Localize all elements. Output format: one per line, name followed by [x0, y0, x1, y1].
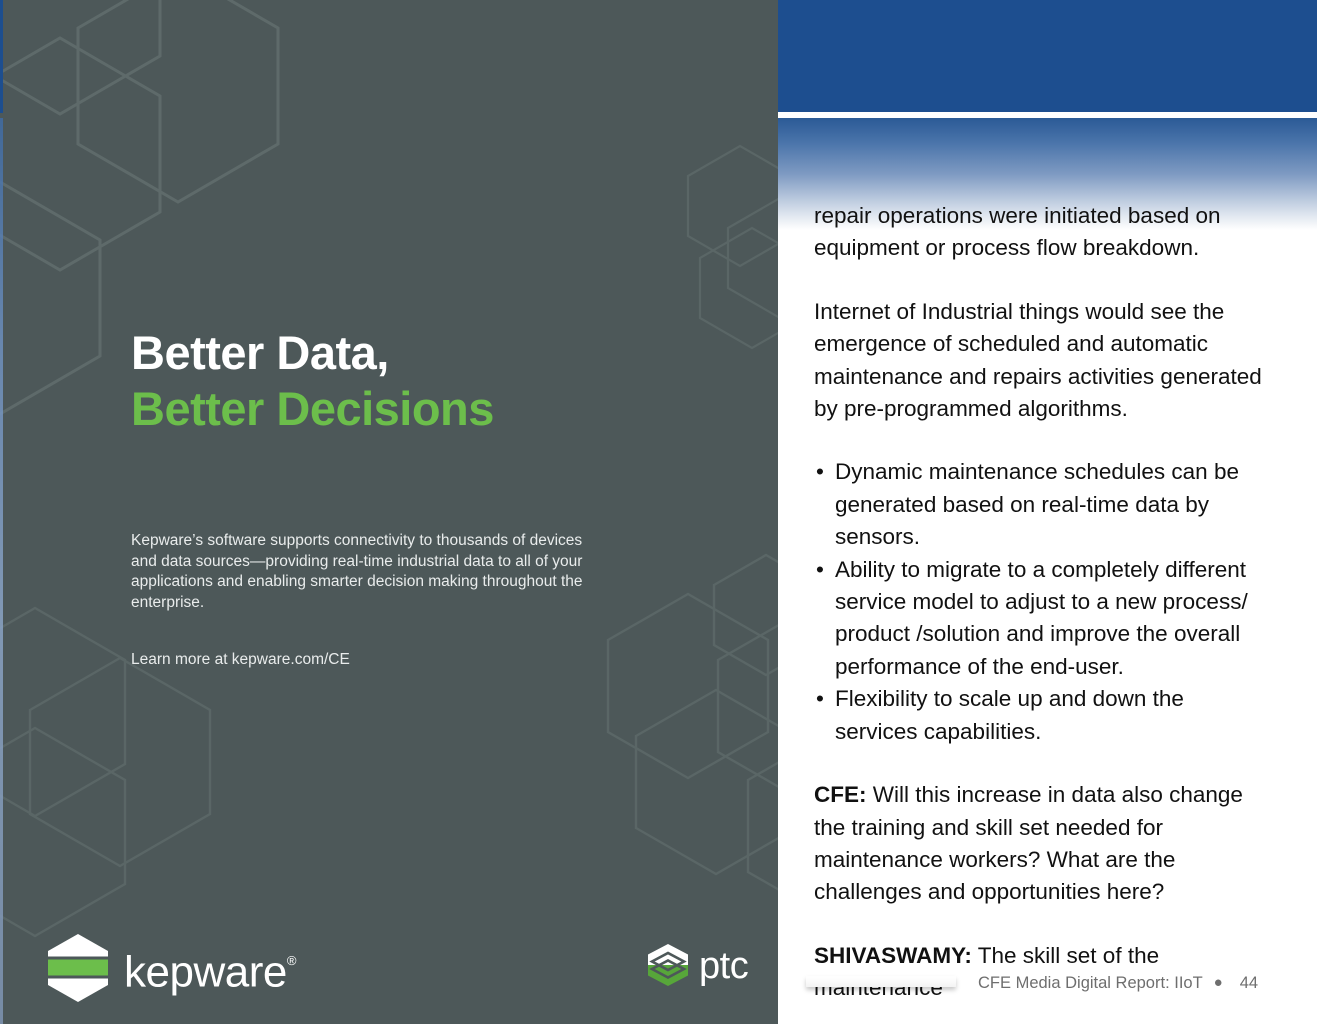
list-item: •Dynamic maintenance schedules can be ge… [814, 456, 1264, 553]
article-page: repair operations were initiated based o… [778, 0, 1317, 1024]
footer-publication-name: CFE Media Digital Report: IIoT [978, 974, 1203, 993]
list-item-text: Dynamic maintenance schedules can be gen… [835, 459, 1239, 549]
ad-content: Better Data, Better Decisions Kepware’s … [0, 0, 778, 1024]
ad-body-copy: Kepware’s software supports connectivity… [131, 531, 591, 613]
footer-separator-dot: ● [1214, 973, 1223, 992]
bullet-icon: • [816, 456, 824, 488]
ptc-wordmark: ptc [699, 947, 748, 985]
list-item: •Flexibility to scale up and down the se… [814, 683, 1264, 748]
ptc-logo: ptc [648, 944, 748, 986]
page-header-blue-band [778, 0, 1317, 112]
article-bullet-list: •Dynamic maintenance schedules can be ge… [814, 456, 1264, 748]
question-text: Will this increase in data also change t… [814, 782, 1243, 904]
article-question: CFE: Will this increase in data also cha… [814, 779, 1264, 909]
ad-headline-line2: Better Decisions [131, 381, 731, 437]
kepware-wordmark: kepware® [124, 945, 296, 995]
article-text-column: repair operations were initiated based o… [814, 200, 1264, 1005]
ad-headline: Better Data, Better Decisions [131, 325, 731, 437]
article-paragraph: Internet of Industrial things would see … [814, 296, 1264, 426]
kepware-logo: kepware® [48, 934, 296, 1002]
bullet-icon: • [816, 683, 824, 715]
kepware-registered-mark: ® [287, 953, 296, 968]
list-item-text: Flexibility to scale up and down the ser… [835, 686, 1184, 743]
kepware-wordmark-text: kepware [124, 948, 287, 997]
footer-decorative-bar [806, 976, 956, 987]
article-paragraph: repair operations were initiated based o… [814, 200, 1264, 265]
list-item: •Ability to migrate to a completely diff… [814, 554, 1264, 684]
page-number: 44 [1240, 974, 1258, 993]
ad-learn-more-link[interactable]: Learn more at kepware.com/CE [131, 650, 591, 670]
question-speaker-label: CFE: [814, 782, 867, 807]
kepware-hexagon-icon [48, 934, 108, 1002]
ptc-hexagon-icon [648, 944, 688, 986]
magazine-spread: Better Data, Better Decisions Kepware’s … [0, 0, 1317, 1024]
bullet-icon: • [816, 554, 824, 586]
kepware-advertisement-panel: Better Data, Better Decisions Kepware’s … [0, 0, 778, 1024]
footer-caption: CFE Media Digital Report: IIoT ● 44 [978, 974, 1258, 993]
ad-headline-line1: Better Data, [131, 325, 731, 381]
page-footer: CFE Media Digital Report: IIoT ● 44 [778, 964, 1317, 1024]
list-item-text: Ability to migrate to a completely diffe… [835, 557, 1248, 679]
